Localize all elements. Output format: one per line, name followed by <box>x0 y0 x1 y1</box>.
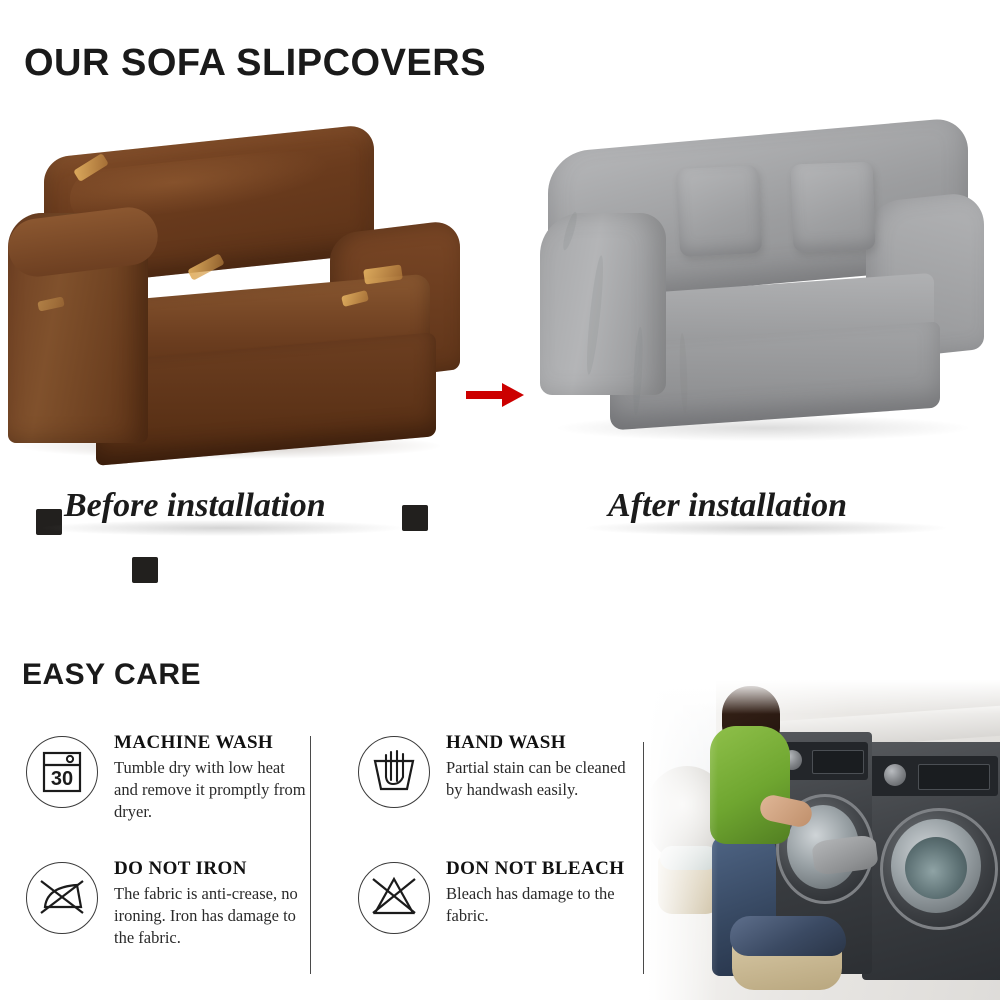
care-text-hand-wash: HAND WASH Partial stain can be cleaned b… <box>446 732 642 801</box>
care-description: Tumble dry with low heat and remove it p… <box>114 757 310 823</box>
dryer-door <box>880 808 998 930</box>
floor-clothes-pile <box>730 916 846 956</box>
care-description: Bleach has damage to the fabric. <box>446 883 642 927</box>
dryer-knob <box>884 764 906 786</box>
photo-top-fade <box>648 680 1000 714</box>
care-heading: MACHINE WASH <box>114 732 310 754</box>
page-title: OUR SOFA SLIPCOVERS <box>24 42 486 85</box>
right-arrow-icon <box>466 383 530 407</box>
care-heading: DON NOT BLEACH <box>446 858 642 880</box>
photo-left-fade <box>648 680 718 1000</box>
care-description: The fabric is anti-crease, no ironing. I… <box>114 883 310 949</box>
woman-green-top <box>710 726 790 844</box>
laundry-lifestyle-photo <box>648 680 1000 1000</box>
clothes-dryer <box>862 742 1000 980</box>
grey-sofa-left-arm <box>540 213 666 395</box>
care-heading: HAND WASH <box>446 732 642 754</box>
before-installation-caption: Before installation <box>64 487 326 525</box>
easy-care-grid: 30 MACHINE WASH Tumble dry with low heat… <box>22 726 644 978</box>
washing-machine-30-icon: 30 <box>26 736 98 808</box>
care-heading: DO NOT IRON <box>114 858 310 880</box>
do-not-bleach-icon <box>358 862 430 934</box>
dryer-display <box>918 764 990 790</box>
after-installation-caption: After installation <box>608 487 847 525</box>
dryer-laundry <box>905 837 967 899</box>
care-item-do-not-iron: DO NOT IRON The fabric is anti-crease, n… <box>22 858 312 976</box>
washer-display <box>812 750 864 774</box>
hand-wash-icon <box>358 736 430 808</box>
before-stage <box>0 115 470 485</box>
care-text-machine-wash: MACHINE WASH Tumble dry with low heat an… <box>114 732 310 823</box>
care-item-hand-wash: HAND WASH Partial stain can be cleaned b… <box>354 732 644 850</box>
brown-sofa-leg <box>132 557 158 583</box>
care-text-do-not-iron: DO NOT IRON The fabric is anti-crease, n… <box>114 858 310 949</box>
after-stage <box>530 115 1000 485</box>
dryer-door-glass <box>891 819 981 913</box>
care-item-do-not-bleach: DON NOT BLEACH Bleach has damage to the … <box>354 858 644 976</box>
svg-text:30: 30 <box>51 768 73 790</box>
do-not-iron-icon <box>26 862 98 934</box>
before-after-comparison: Before installation After installation <box>0 115 1000 540</box>
arrow-head <box>502 383 524 407</box>
grey-sofa-cushion <box>790 162 875 253</box>
easy-care-title: EASY CARE <box>22 658 201 692</box>
care-text-do-not-bleach: DON NOT BLEACH Bleach has damage to the … <box>446 858 642 927</box>
arrow-shaft <box>466 391 506 399</box>
grey-sofa-cushion <box>676 165 762 257</box>
care-item-machine-wash: 30 MACHINE WASH Tumble dry with low heat… <box>22 732 312 850</box>
brown-sofa-leg <box>402 505 428 531</box>
care-description: Partial stain can be cleaned by handwash… <box>446 757 642 801</box>
